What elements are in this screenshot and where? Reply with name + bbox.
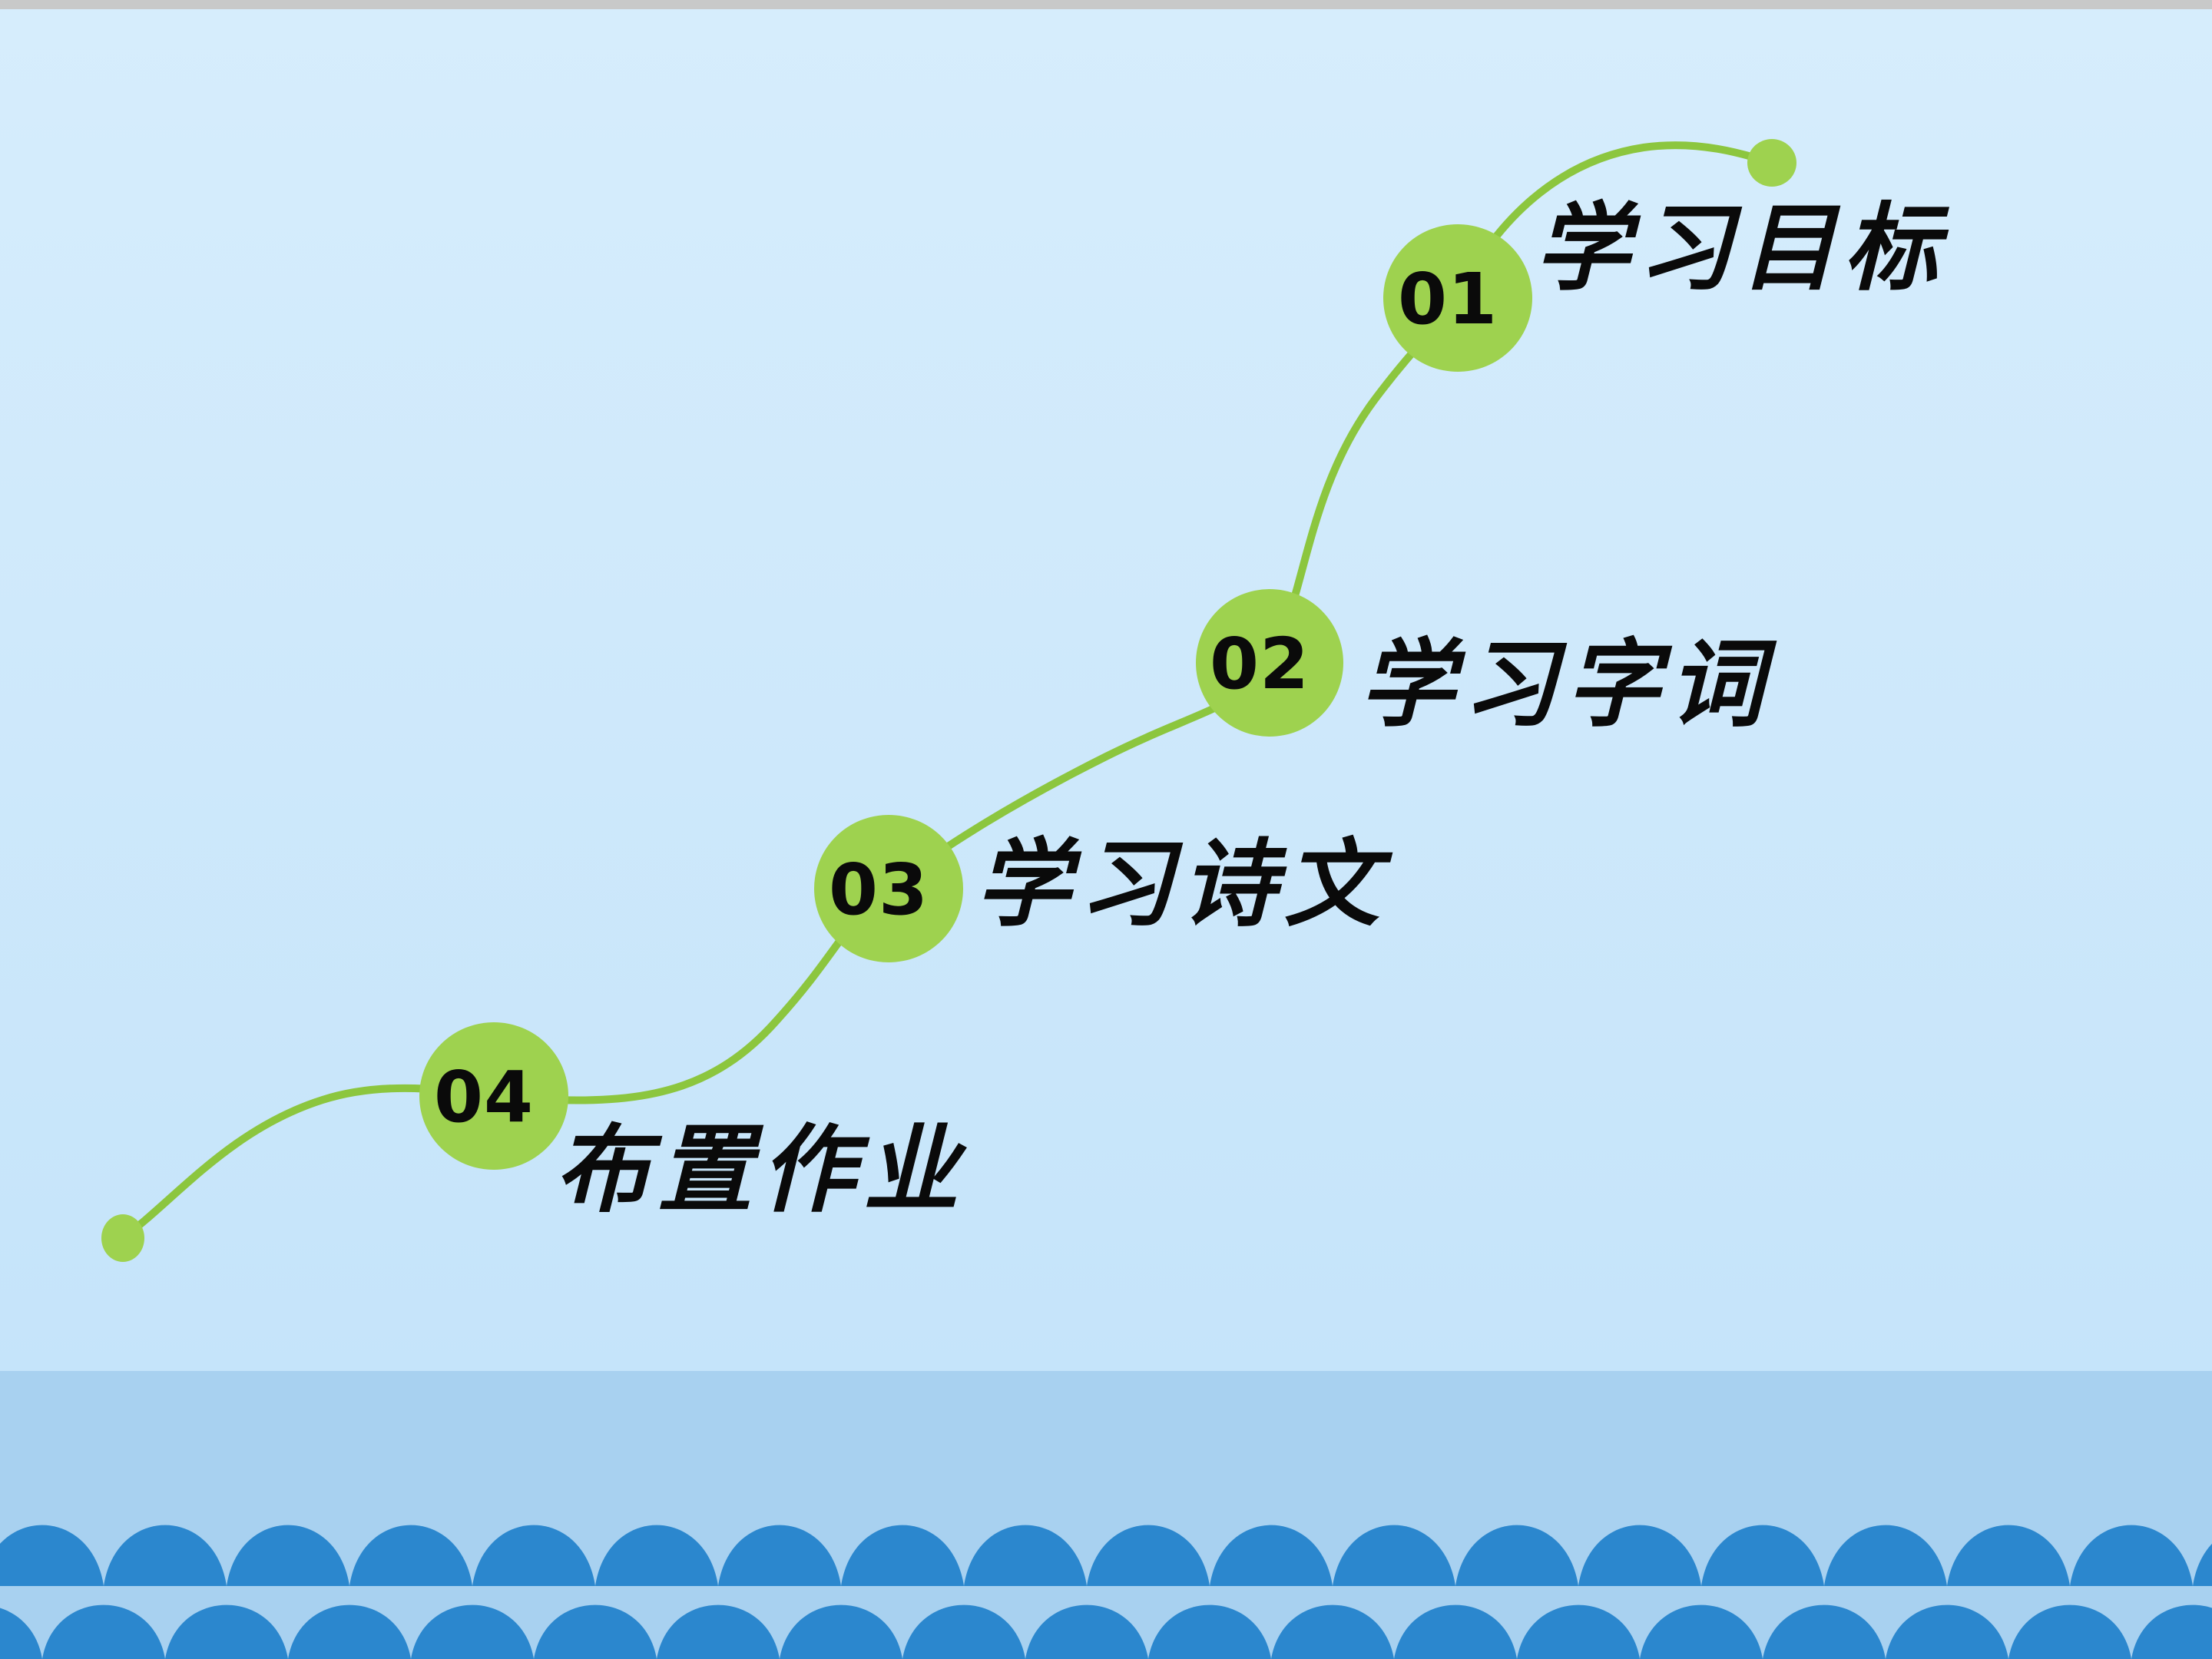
- step-label-03[interactable]: 学习诗文: [975, 837, 1387, 932]
- step-number-04: 04: [434, 1062, 534, 1133]
- step-number-01: 01: [1398, 264, 1498, 335]
- step-node-04[interactable]: 04: [419, 1022, 568, 1170]
- step-node-01[interactable]: 01: [1383, 224, 1532, 372]
- top-gray-bar: [0, 0, 2212, 9]
- path-start-dot: [101, 1214, 144, 1262]
- step-node-03[interactable]: 03: [814, 815, 963, 962]
- path-end-dot: [1747, 139, 1796, 187]
- step-number-03: 03: [829, 855, 929, 926]
- step-node-02[interactable]: 02: [1196, 589, 1343, 737]
- slide-canvas: 01 学习目标 02 学习字词 03 学习诗文 04 布置作业: [0, 0, 2212, 1659]
- step-number-02: 02: [1210, 629, 1310, 700]
- step-label-01[interactable]: 学习目标: [1535, 201, 1946, 296]
- step-label-02[interactable]: 学习字词: [1359, 637, 1771, 733]
- step-label-04[interactable]: 布置作业: [555, 1123, 966, 1218]
